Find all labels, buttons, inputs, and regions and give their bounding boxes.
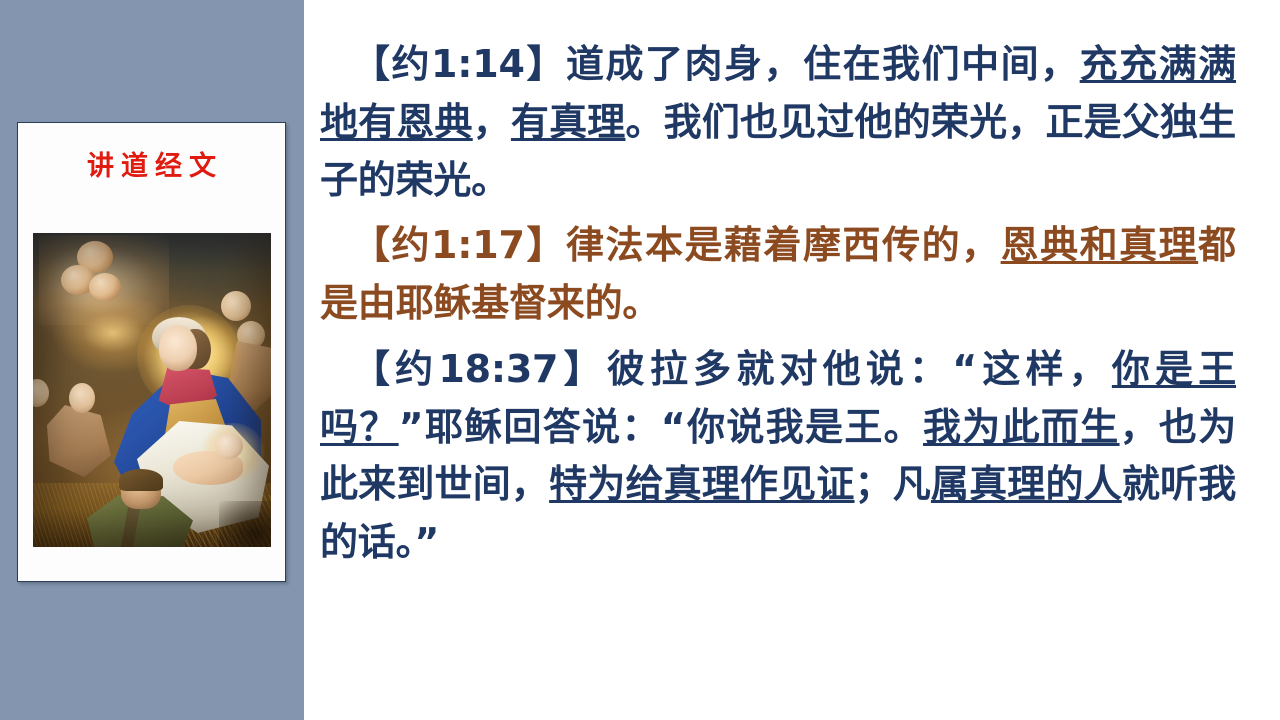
scripture-card: 讲道经文: [17, 122, 286, 582]
verse-text-plain: 彼拉多就对他说：“这样，: [607, 347, 1112, 391]
verse-text-plain: ”耶稣回答说：“你说我是王。: [399, 405, 923, 449]
verse-text-plain: 道成了肉身，住在我们中间，: [566, 42, 1080, 86]
verse-text-plain: ，: [473, 100, 511, 144]
verse-reference: 【约1:17】: [352, 223, 566, 267]
verse-text-underlined: 特为给真理作见证: [549, 462, 854, 506]
verse-text-underlined: 我为此而生: [923, 405, 1120, 449]
card-title: 讲道经文: [18, 153, 285, 180]
verse-text-plain: ；凡: [855, 462, 931, 506]
verse-text-underlined: 恩典和真理: [1001, 223, 1199, 267]
verse-text-plain: 律法本是藉着摩西传的，: [566, 223, 1001, 267]
verse-reference: 【约18:37】: [352, 347, 607, 391]
passage-john-1-17: 【约1:17】律法本是藉着摩西传的，恩典和真理都是由耶稣基督来的。: [320, 217, 1236, 333]
slide-root: 讲道经文: [0, 0, 1280, 720]
passage-john-18-37: 【约18:37】彼拉多就对他说：“这样，你是王吗？”耶稣回答说：“你说我是王。我…: [320, 341, 1236, 572]
scripture-passage-list: 【约1:14】道成了肉身，住在我们中间，充充满满地有恩典，有真理。我们也见过他的…: [320, 36, 1236, 580]
content-panel: 【约1:14】道成了肉身，住在我们中间，充充满满地有恩典，有真理。我们也见过他的…: [304, 0, 1280, 720]
verse-text-underlined: 有真理: [511, 100, 626, 144]
verse-text-underlined: 属真理的人: [931, 462, 1122, 506]
verse-reference: 【约1:14】: [352, 42, 566, 86]
passage-john-1-14: 【约1:14】道成了肉身，住在我们中间，充充满满地有恩典，有真理。我们也见过他的…: [320, 36, 1236, 209]
nativity-painting: [33, 233, 271, 547]
sidebar-panel: 讲道经文: [0, 0, 304, 720]
